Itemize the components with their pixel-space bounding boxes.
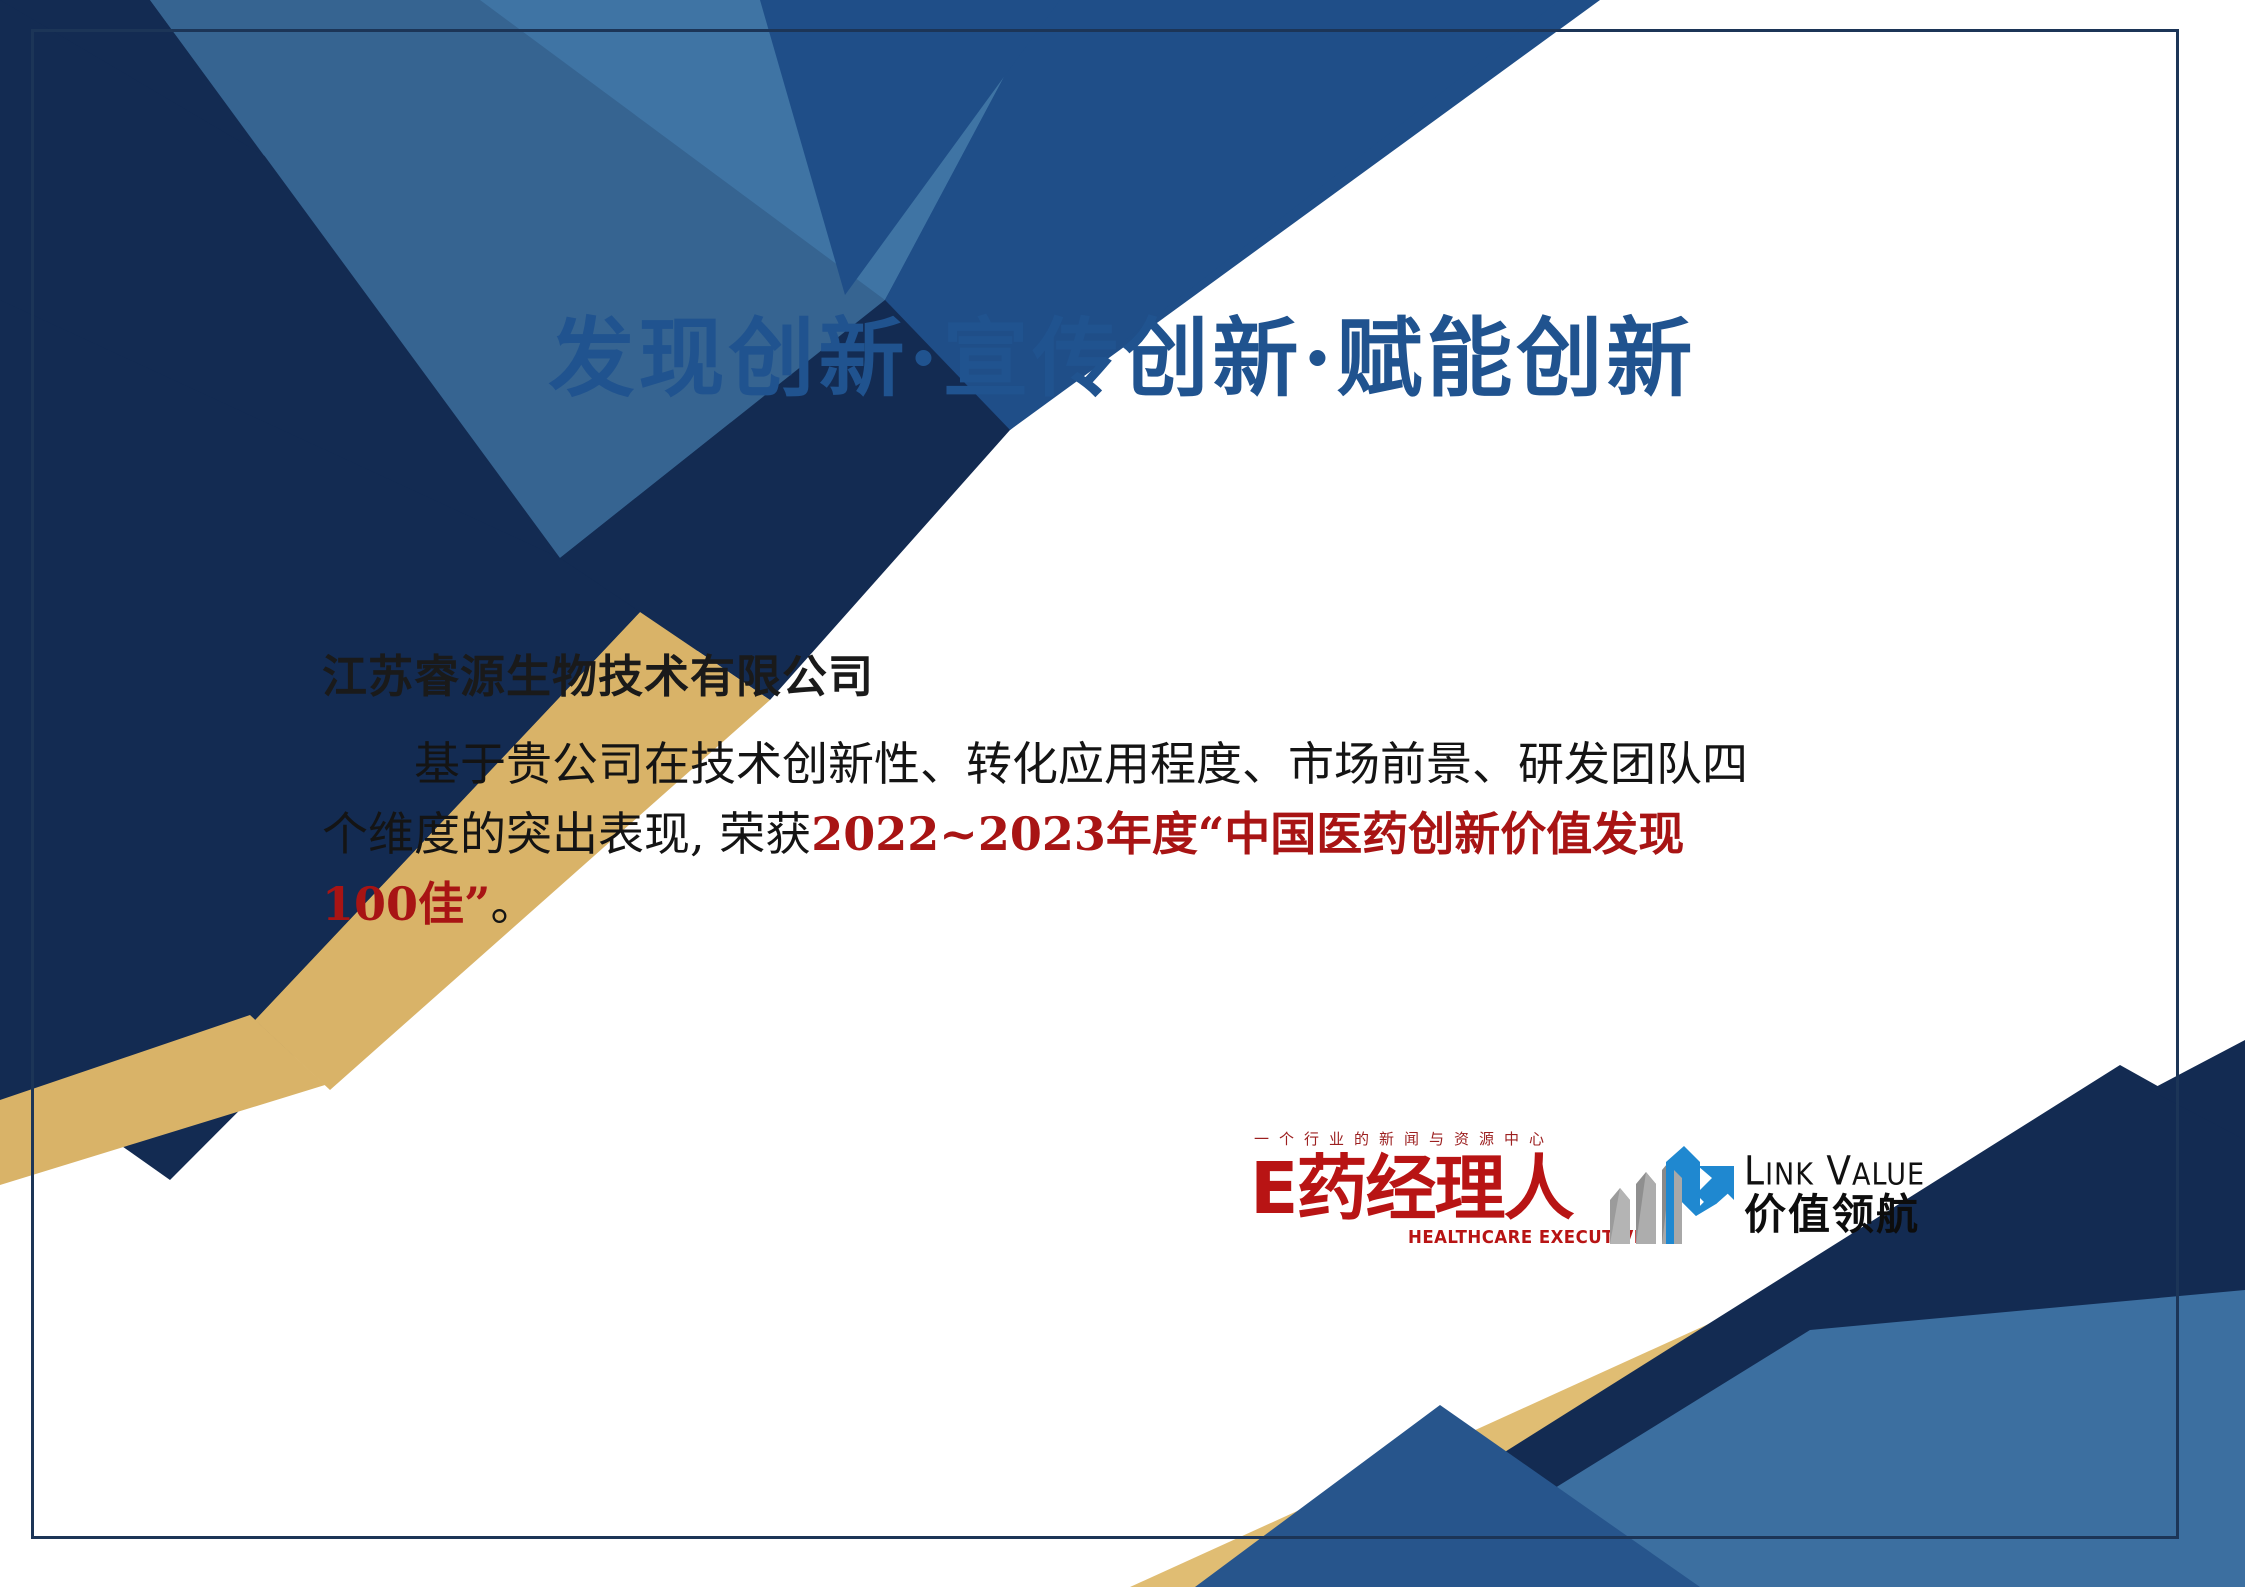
recipient-company-name: 江苏睿源生物技术有限公司 — [322, 650, 1922, 704]
eyao-jinglixin-logo: 一个行业的新闻与资源中心 E药经理人 HEALTHCARE EXECUTIVE — [1232, 1128, 1572, 1252]
certificate-title-text: 发现创新·宣传创新·赋能创新 — [549, 288, 1697, 413]
link-value-english-text: LINK VALUE — [1744, 1152, 1925, 1192]
link-value-en-V: V — [1826, 1149, 1852, 1195]
citation-line-2-black: 个维度的突出表现, 荣获 — [322, 807, 811, 861]
citation-line-1-text: 基于贵公司在技术创新性、转化应用程度、市场前景、研发团队四 — [414, 737, 1748, 791]
citation-line-3: 100佳”。 — [322, 870, 1922, 940]
link-value-arrow-bars-icon — [1604, 1144, 1734, 1244]
certificate-title: 发现创新·宣传创新·赋能创新 — [0, 288, 2245, 413]
eyao-logo-tagline: 一个行业的新闻与资源中心 — [1254, 1128, 1554, 1149]
link-value-logo: LINK VALUE 价值领航 — [1604, 1132, 1904, 1252]
link-value-en-L: L — [1744, 1149, 1765, 1195]
citation-line-1: 基于贵公司在技术创新性、转化应用程度、市场前景、研发团队四 — [322, 730, 1922, 800]
certificate-body: 江苏睿源生物技术有限公司 基于贵公司在技术创新性、转化应用程度、市场前景、研发团… — [322, 650, 1922, 940]
citation-line-3-black: 。 — [490, 877, 536, 931]
citation-award-name: 2022~2023年度“中国医药创新价值发现 — [811, 807, 1684, 861]
link-value-en-INK: INK — [1765, 1158, 1814, 1193]
citation-line-2: 个维度的突出表现, 荣获2022~2023年度“中国医药创新价值发现 — [322, 800, 1922, 870]
certificate-page: 发现创新·宣传创新·赋能创新 江苏睿源生物技术有限公司 基于贵公司在技术创新性、… — [0, 0, 2245, 1587]
eyao-logo-brand: E药经理人 — [1250, 1153, 1573, 1224]
link-value-chinese-text: 价值领航 — [1744, 1194, 1920, 1236]
partner-logos: 一个行业的新闻与资源中心 E药经理人 HEALTHCARE EXECUTIVE — [1232, 1128, 1904, 1252]
citation-award-rank: 100佳” — [322, 877, 490, 931]
link-value-en-ALUE: ALUE — [1852, 1158, 1925, 1193]
